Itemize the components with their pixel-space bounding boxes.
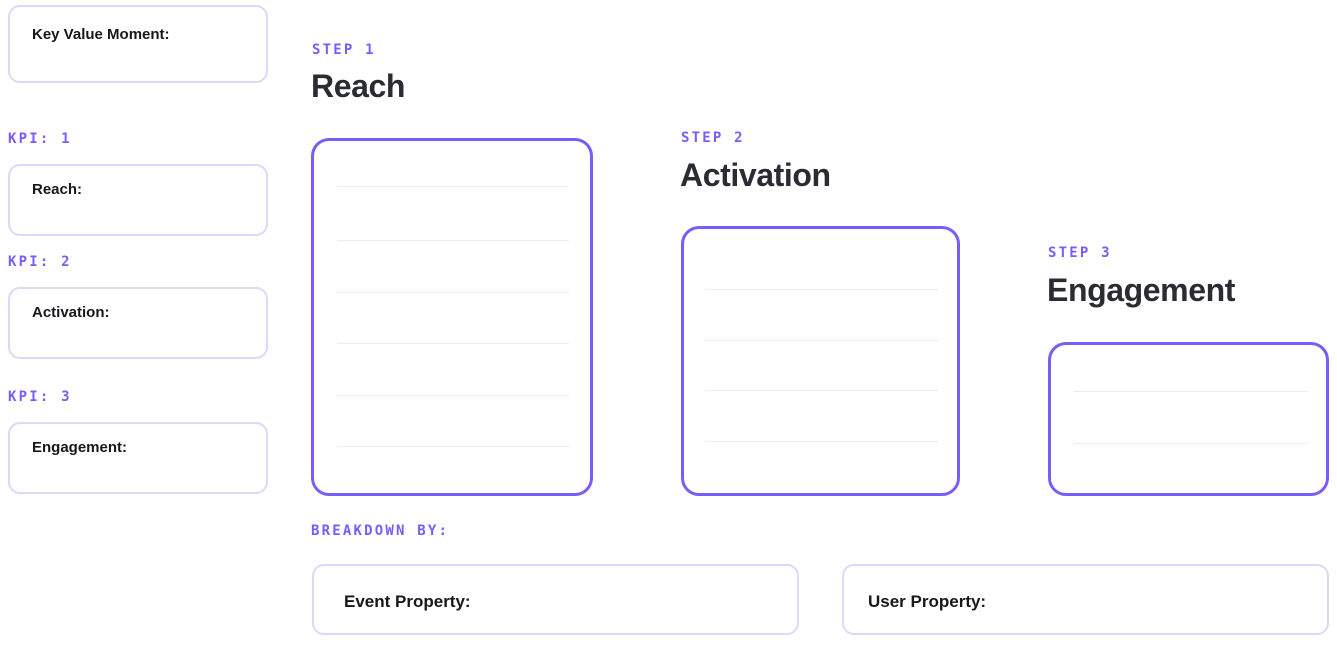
kpi-3-tag: KPI: 3 — [8, 390, 72, 404]
step-2-notes-area[interactable] — [681, 226, 960, 496]
step-1-title: Reach — [311, 70, 405, 102]
note-rule — [337, 186, 569, 187]
user-property-label: User Property: — [868, 593, 986, 610]
note-rule — [705, 390, 939, 391]
note-rule — [337, 292, 569, 293]
kpi-1-label: Reach: — [32, 182, 82, 197]
note-rule — [337, 343, 569, 344]
note-rule — [1074, 443, 1308, 444]
step-1-tag: STEP 1 — [312, 43, 376, 57]
worksheet-canvas: Key Value Moment: KPI: 1 Reach: KPI: 2 A… — [0, 0, 1337, 646]
user-property-card[interactable]: User Property: — [842, 564, 1329, 635]
event-property-card[interactable]: Event Property: — [312, 564, 799, 635]
key-value-moment-label: Key Value Moment: — [32, 27, 170, 42]
step-3-title: Engagement — [1047, 274, 1235, 306]
note-rule — [337, 446, 569, 447]
note-rule — [337, 240, 569, 241]
breakdown-by-tag: BREAKDOWN BY: — [311, 524, 449, 538]
step-1-notes-area[interactable] — [311, 138, 593, 496]
note-rule — [705, 441, 939, 442]
step-3-notes-area[interactable] — [1048, 342, 1329, 496]
note-rule — [705, 289, 939, 290]
key-value-moment-card[interactable]: Key Value Moment: — [8, 5, 268, 83]
note-rule — [337, 395, 569, 396]
kpi-1-tag: KPI: 1 — [8, 132, 72, 146]
kpi-3-label: Engagement: — [32, 440, 127, 455]
step-3-tag: STEP 3 — [1048, 246, 1112, 260]
kpi-3-card[interactable]: Engagement: — [8, 422, 268, 494]
kpi-2-label: Activation: — [32, 305, 110, 320]
kpi-1-card[interactable]: Reach: — [8, 164, 268, 236]
kpi-2-tag: KPI: 2 — [8, 255, 72, 269]
event-property-label: Event Property: — [344, 593, 471, 610]
note-rule — [705, 340, 939, 341]
note-rule — [1074, 391, 1308, 392]
kpi-2-card[interactable]: Activation: — [8, 287, 268, 359]
step-2-title: Activation — [680, 159, 831, 191]
step-2-tag: STEP 2 — [681, 131, 745, 145]
